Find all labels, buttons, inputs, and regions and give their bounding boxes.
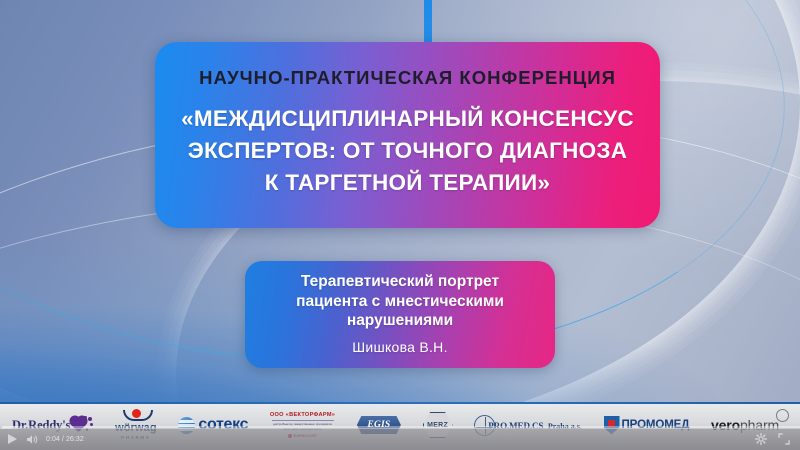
conference-title: «МЕЖДИСЦИПЛИНАРНЫЙ КОНСЕНСУС ЭКСПЕРТОВ: … <box>165 103 650 199</box>
conference-title-line-1: «МЕЖДИСЦИПЛИНАРНЫЙ КОНСЕНСУС <box>181 103 634 135</box>
talk-title-line-3: нарушениями <box>296 311 504 331</box>
time-display: 0:04 / 26:32 <box>46 436 84 443</box>
speaker-name: Шишкова В.Н. <box>352 339 448 355</box>
volume-button[interactable] <box>26 433 39 446</box>
progress-played <box>0 426 2 429</box>
progress-bar[interactable] <box>0 426 800 429</box>
fullscreen-icon <box>778 433 790 445</box>
talk-title-line-2: пациента с мнестическими <box>296 292 504 312</box>
player-controls[interactable]: 0:04 / 26:32 <box>0 428 800 450</box>
talk-card: Терапевтический портрет пациента с мнест… <box>245 261 555 368</box>
worwag-mark-icon <box>123 410 149 421</box>
play-icon <box>8 434 17 444</box>
conference-kicker: НАУЧНО-ПРАКТИЧЕСКАЯ КОНФЕРЕНЦИЯ <box>199 68 616 88</box>
play-button[interactable] <box>6 433 19 446</box>
talk-title: Терапевтический портрет пациента с мнест… <box>296 272 504 331</box>
gear-icon <box>755 433 767 445</box>
title-banner: НАУЧНО-ПРАКТИЧЕСКАЯ КОНФЕРЕНЦИЯ «МЕЖДИСЦ… <box>155 42 660 228</box>
vektorfarm-rule <box>272 420 334 421</box>
conference-title-line-3: К ТАРГЕТНОЙ ТЕРАПИИ» <box>181 167 634 199</box>
talk-title-line-1: Терапевтический портрет <box>296 272 504 292</box>
progress-buffer <box>0 426 18 429</box>
video-player[interactable]: НАУЧНО-ПРАКТИЧЕСКАЯ КОНФЕРЕНЦИЯ «МЕЖДИСЦ… <box>0 0 800 450</box>
fullscreen-button[interactable] <box>777 433 790 446</box>
sponsor-label-vektorfarm: ООО «ВЕКТОРФАРМ» <box>270 412 335 418</box>
conference-title-line-2: ЭКСПЕРТОВ: ОТ ТОЧНОГО ДИАГНОЗА <box>181 135 634 167</box>
veropharm-ring-icon <box>776 409 789 422</box>
slide-canvas: НАУЧНО-ПРАКТИЧЕСКАЯ КОНФЕРЕНЦИЯ «МЕЖДИСЦ… <box>0 0 800 450</box>
volume-icon <box>26 434 39 445</box>
settings-button[interactable] <box>754 433 767 446</box>
